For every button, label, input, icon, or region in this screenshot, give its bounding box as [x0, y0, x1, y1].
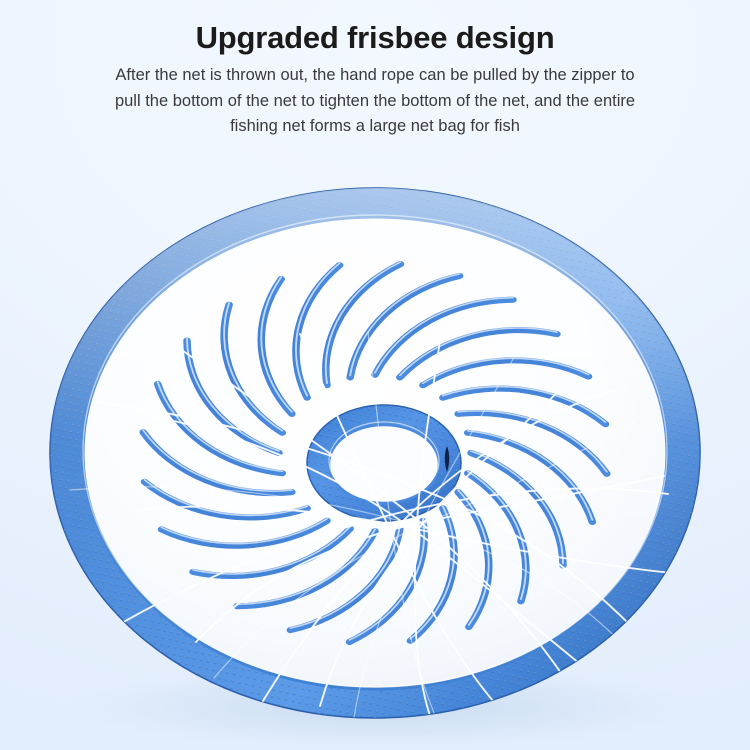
- product-image: [0, 150, 750, 750]
- description-line-2: pull the bottom of the net to tighten th…: [30, 89, 720, 114]
- page-title: Upgraded frisbee design: [0, 21, 750, 54]
- frisbee-fishing-net-illustration: [0, 150, 750, 750]
- product-banner: Upgraded frisbee design After the net is…: [0, 0, 750, 750]
- description-text: After the net is thrown out, the hand ro…: [30, 63, 720, 138]
- text-block: Upgraded frisbee design After the net is…: [0, 0, 750, 139]
- description-line-1: After the net is thrown out, the hand ro…: [30, 63, 720, 88]
- description-line-3: fishing net forms a large net bag for fi…: [30, 114, 720, 139]
- frisbee-body: [50, 188, 700, 730]
